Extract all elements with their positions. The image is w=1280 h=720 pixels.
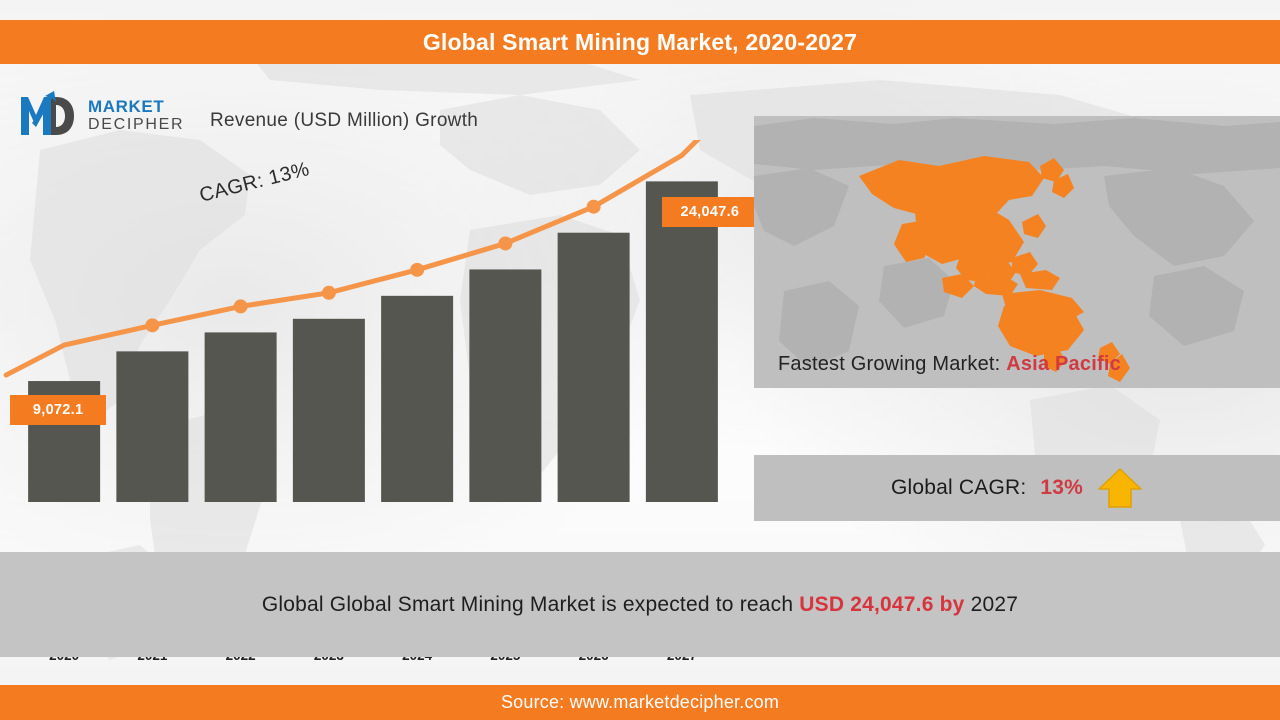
trend-point-2021	[145, 318, 159, 332]
global-cagr-value: 13%	[1040, 476, 1083, 500]
bars-layer	[28, 181, 718, 502]
logo-text-line-2: DECIPHER	[88, 117, 184, 133]
statement-line: Global Global Smart Mining Market is exp…	[262, 593, 1018, 617]
value-badge-2020: 9,072.1	[10, 395, 106, 425]
bar-2023	[293, 319, 365, 502]
fastest-growing-map-panel	[754, 116, 1280, 388]
md-arrow-logo-icon	[18, 89, 80, 139]
source-text: Source: www.marketdecipher.com	[501, 692, 779, 713]
brand-logo[interactable]: MARKET DECIPHER	[18, 86, 198, 142]
statement-suffix: 2027	[971, 593, 1019, 616]
statement-highlight: USD 24,047.6 by	[799, 593, 964, 616]
bar-2026	[558, 233, 630, 502]
chart-plot-area	[0, 140, 740, 505]
global-cagr-label: Global CAGR:	[891, 476, 1026, 500]
bar-2027	[646, 181, 718, 502]
revenue-bar-chart: 20202021202220232024202520262027	[0, 140, 740, 540]
bar-2025	[469, 269, 541, 502]
fastest-growing-market-label: Fastest Growing Market: Asia Pacific	[778, 353, 1121, 376]
infographic-canvas: Global Smart Mining Market, 2020-2027 MA…	[0, 0, 1280, 720]
page-title: Global Smart Mining Market, 2020-2027	[423, 29, 857, 56]
statement-banner: Global Global Smart Mining Market is exp…	[0, 552, 1280, 657]
bar-2022	[205, 332, 277, 502]
global-cagr-panel: Global CAGR: 13%	[754, 455, 1280, 521]
trend-point-2024	[410, 263, 424, 277]
statement-prefix: Global Global Smart Mining Market is exp…	[262, 593, 793, 616]
header-banner: Global Smart Mining Market, 2020-2027	[0, 20, 1280, 64]
value-badge-2027: 24,047.6	[662, 197, 758, 227]
trend-point-2025	[498, 236, 512, 250]
trend-point-2023	[322, 286, 336, 300]
logo-text-line-1: MARKET	[88, 98, 184, 115]
up-arrow-icon	[1097, 467, 1143, 509]
trend-point-2022	[234, 299, 248, 313]
chart-title: Revenue (USD Million) Growth	[210, 110, 478, 132]
trend-point-2026	[587, 200, 601, 214]
world-map-asia-pacific-highlight-icon	[754, 116, 1280, 388]
bar-2024	[381, 296, 453, 502]
fastest-growing-region: Asia Pacific	[1006, 353, 1121, 375]
fastest-growing-prefix: Fastest Growing Market:	[778, 353, 1000, 375]
bar-2021	[116, 351, 188, 502]
footer-banner: Source: www.marketdecipher.com	[0, 685, 1280, 720]
